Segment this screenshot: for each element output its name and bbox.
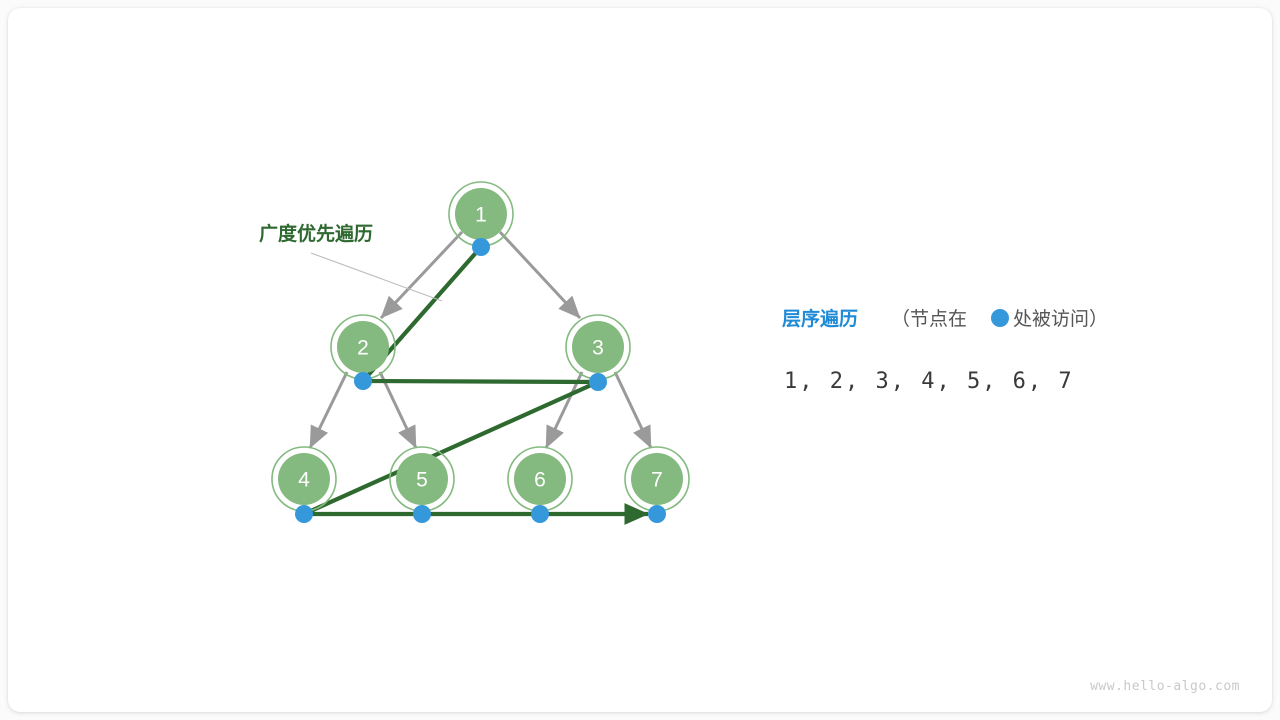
info-panel: 层序遍历 （节点在 处被访问） 1, 2, 3, 4, 5, 6, 7 [782, 307, 1108, 394]
tree-edge-2-5 [380, 372, 416, 448]
node-label: 3 [592, 337, 604, 360]
bfs-leader-line [311, 253, 442, 301]
node-label: 5 [416, 469, 428, 492]
panel-note-suffix: 处被访问） [1013, 308, 1108, 330]
node-label: 6 [534, 469, 546, 492]
visit-dot-node-5 [413, 505, 431, 523]
visit-dot-node-7 [648, 505, 666, 523]
tree-node-7[interactable]: 7 [625, 447, 689, 511]
bfs-label: 广度优先遍历 [259, 222, 373, 245]
visit-dot-node-2 [354, 372, 372, 390]
panel-note-prefix: （节点在 [891, 308, 967, 330]
visit-dot-node-6 [531, 505, 549, 523]
tree-edge-1-2 [381, 232, 462, 318]
bfs-annotation: 广度优先遍历 [259, 222, 442, 301]
tree-node-1[interactable]: 1 [449, 182, 513, 246]
tree-node-4[interactable]: 4 [272, 447, 336, 511]
tree-node-3[interactable]: 3 [566, 315, 630, 379]
visit-dot-node-4 [295, 505, 313, 523]
tree-node-2[interactable]: 2 [331, 315, 395, 379]
tree-edge-1-3 [500, 232, 580, 318]
node-label: 7 [651, 469, 663, 492]
node-label: 4 [298, 469, 310, 492]
visit-dot-node-1 [472, 238, 490, 256]
tree-node-6[interactable]: 6 [508, 447, 572, 511]
traversal-sequence: 1, 2, 3, 4, 5, 6, 7 [784, 369, 1074, 394]
legend-visit-dot-icon [991, 309, 1009, 327]
node-label: 1 [475, 204, 487, 227]
panel-heading: 层序遍历 [782, 307, 858, 330]
tree-edge-2-4 [310, 372, 347, 448]
tree-node-5[interactable]: 5 [390, 447, 454, 511]
watermark: www.hello-algo.com [1090, 679, 1240, 694]
node-label: 2 [357, 337, 369, 360]
visit-dot-node-3 [589, 373, 607, 391]
tree-edge-3-7 [615, 372, 651, 448]
binary-tree-level-order-diagram: 1 2 3 4 5 6 7 广度优先遍历 [0, 0, 1280, 720]
